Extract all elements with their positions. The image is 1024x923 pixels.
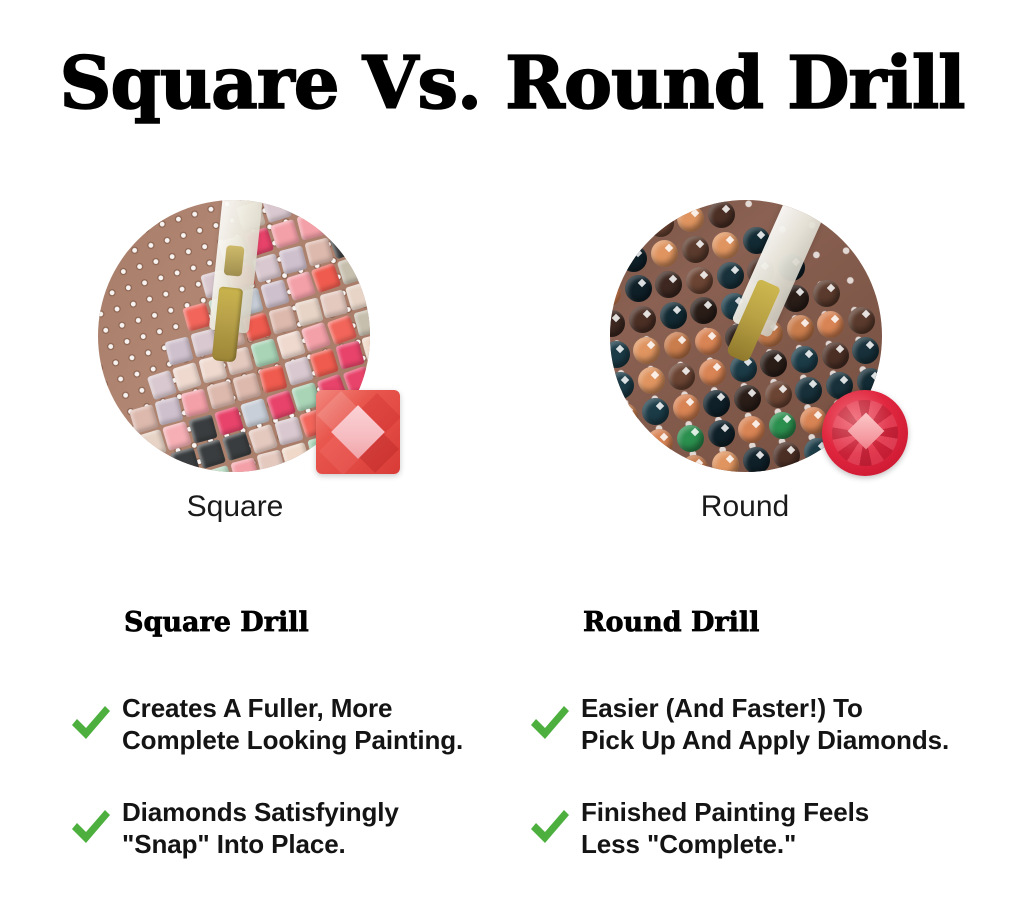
- square-bead: [258, 365, 287, 394]
- square-bead: [144, 455, 174, 472]
- square-bead: [294, 297, 323, 326]
- square-bead: [281, 442, 311, 472]
- square-bead: [274, 416, 303, 445]
- round-bead: [610, 438, 612, 465]
- round-bead: [668, 363, 695, 390]
- round-bead: [817, 311, 844, 338]
- round-bead: [633, 337, 660, 364]
- check-icon: [527, 700, 573, 746]
- round-bead: [610, 280, 621, 307]
- square-gem-icon: [316, 390, 400, 474]
- square-bead: [327, 314, 358, 345]
- square-bead: [111, 437, 141, 467]
- round-bead: [629, 306, 656, 333]
- round-bead: [625, 275, 652, 302]
- round-bead: [646, 429, 673, 456]
- square-bead: [188, 414, 217, 443]
- square-bead: [146, 370, 176, 400]
- round-bead: [651, 240, 678, 267]
- square-drill-photo-cell: [98, 200, 388, 480]
- round-gem-icon: [822, 390, 908, 476]
- photo-comparison-row: [0, 200, 1024, 480]
- round-bead: [610, 372, 634, 399]
- square-bead: [232, 372, 261, 401]
- square-bead: [129, 404, 159, 434]
- list-item-line: Less "Complete.": [581, 828, 997, 860]
- round-bead: [638, 367, 665, 394]
- round-bead: [642, 398, 669, 425]
- square-drill-bullet-list: Creates A Fuller, More Complete Looking …: [68, 692, 538, 900]
- round-bead: [611, 403, 638, 430]
- list-item-line: Pick Up And Apply Diamonds.: [581, 724, 997, 756]
- square-bead: [240, 398, 270, 428]
- round-bead: [690, 297, 717, 324]
- round-bead: [610, 249, 617, 276]
- list-item: Easier (And Faster!) To Pick Up And Appl…: [527, 692, 997, 774]
- round-bead: [795, 377, 822, 404]
- list-item-line: Creates A Fuller, More: [122, 692, 538, 724]
- round-drill-heading: Round Drill: [583, 607, 759, 639]
- round-bead: [673, 394, 700, 421]
- list-item-text: Diamonds Satisfyingly "Snap" Into Place.: [122, 796, 538, 860]
- square-bead: [304, 237, 333, 266]
- round-bead: [787, 315, 814, 342]
- square-bead: [230, 458, 259, 472]
- round-photo-caption: Round: [600, 489, 890, 525]
- round-bead: [610, 310, 625, 337]
- round-bead: [610, 468, 616, 472]
- round-bead: [620, 464, 647, 472]
- square-bead: [256, 450, 285, 472]
- round-bead: [610, 341, 630, 368]
- round-bead: [822, 342, 849, 369]
- round-bead: [769, 412, 796, 439]
- round-bead: [717, 262, 744, 289]
- round-bead: [681, 455, 708, 472]
- list-item-line: "Snap" Into Place.: [122, 828, 538, 860]
- round-bead: [660, 302, 687, 329]
- square-bead: [250, 338, 280, 368]
- pen-wax: [224, 245, 245, 277]
- list-item-text: Finished Painting Feels Less "Complete.": [581, 796, 997, 860]
- square-bead: [329, 229, 360, 260]
- round-bead: [760, 350, 787, 377]
- round-bead: [610, 218, 612, 245]
- square-bead: [345, 281, 370, 311]
- round-bead: [813, 280, 840, 307]
- square-bead: [337, 255, 367, 285]
- round-bead: [677, 425, 704, 452]
- list-item: Diamonds Satisfyingly "Snap" Into Place.: [68, 796, 538, 878]
- list-item-line: Complete Looking Painting.: [122, 724, 538, 756]
- square-bead: [206, 380, 235, 409]
- round-bead: [708, 420, 735, 447]
- round-bead: [852, 337, 879, 364]
- list-item: Finished Painting Feels Less "Complete.": [527, 796, 997, 878]
- round-bead: [616, 433, 643, 460]
- round-bead: [765, 381, 792, 408]
- square-bead: [172, 362, 202, 392]
- square-bead: [301, 322, 331, 352]
- square-bead: [137, 429, 167, 459]
- list-item-text: Creates A Fuller, More Complete Looking …: [122, 692, 538, 756]
- square-bead: [196, 439, 226, 469]
- square-bead: [181, 388, 210, 417]
- round-bead: [848, 307, 875, 334]
- round-bead: [642, 200, 669, 206]
- round-bead: [620, 245, 647, 272]
- square-bead: [165, 336, 194, 365]
- round-bead: [612, 200, 639, 210]
- round-drill-bullet-list: Easier (And Faster!) To Pick Up And Appl…: [527, 692, 997, 900]
- page-title: Square Vs. Round Drill: [0, 44, 1024, 122]
- round-bead: [743, 447, 770, 472]
- square-bead: [309, 348, 339, 378]
- list-item-text: Easier (And Faster!) To Pick Up And Appl…: [581, 692, 997, 756]
- round-bead: [703, 390, 730, 417]
- square-bead: [248, 423, 278, 453]
- round-bead: [734, 385, 761, 412]
- round-bead: [616, 214, 643, 241]
- round-bead: [738, 416, 765, 443]
- round-bead: [664, 332, 691, 359]
- square-bead: [296, 212, 325, 241]
- square-bead: [335, 341, 364, 370]
- square-bead: [170, 447, 200, 472]
- square-bead: [265, 390, 295, 420]
- round-drill-photo-cell: [610, 200, 900, 480]
- square-bead: [222, 431, 252, 461]
- check-icon: [527, 804, 573, 850]
- round-bead: [712, 451, 739, 472]
- check-icon: [68, 804, 114, 850]
- list-item-line: Easier (And Faster!) To: [581, 692, 997, 724]
- square-bead: [320, 289, 349, 318]
- square-bead: [155, 396, 184, 425]
- list-item-line: Finished Painting Feels: [581, 796, 997, 828]
- round-bead: [791, 346, 818, 373]
- square-bead: [270, 219, 300, 249]
- round-bead: [699, 359, 726, 386]
- square-bead: [260, 279, 290, 309]
- round-bead: [651, 460, 678, 472]
- round-bead: [808, 469, 835, 472]
- round-bead: [712, 232, 739, 259]
- round-bead: [673, 200, 700, 202]
- square-drill-heading: Square Drill: [124, 607, 309, 639]
- round-bead: [647, 210, 674, 237]
- square-bead: [183, 303, 213, 333]
- round-bead: [677, 205, 704, 232]
- round-bead: [708, 201, 735, 228]
- square-bead: [311, 263, 342, 294]
- list-item: Creates A Fuller, More Complete Looking …: [68, 692, 538, 774]
- round-bead: [682, 236, 709, 263]
- round-bead: [655, 271, 682, 298]
- round-bead: [773, 442, 800, 469]
- square-bead: [276, 330, 306, 360]
- list-item-line: Diamonds Satisfyingly: [122, 796, 538, 828]
- square-bead: [284, 356, 314, 386]
- square-photo-caption: Square: [90, 489, 380, 525]
- square-bead: [278, 245, 307, 274]
- check-icon: [68, 700, 114, 746]
- square-bead: [268, 305, 297, 334]
- square-bead: [214, 406, 244, 436]
- round-bead: [686, 267, 713, 294]
- square-bead: [286, 271, 316, 301]
- square-bead: [162, 422, 192, 452]
- round-bead: [695, 328, 722, 355]
- square-bead: [322, 204, 351, 233]
- square-bead: [353, 307, 370, 336]
